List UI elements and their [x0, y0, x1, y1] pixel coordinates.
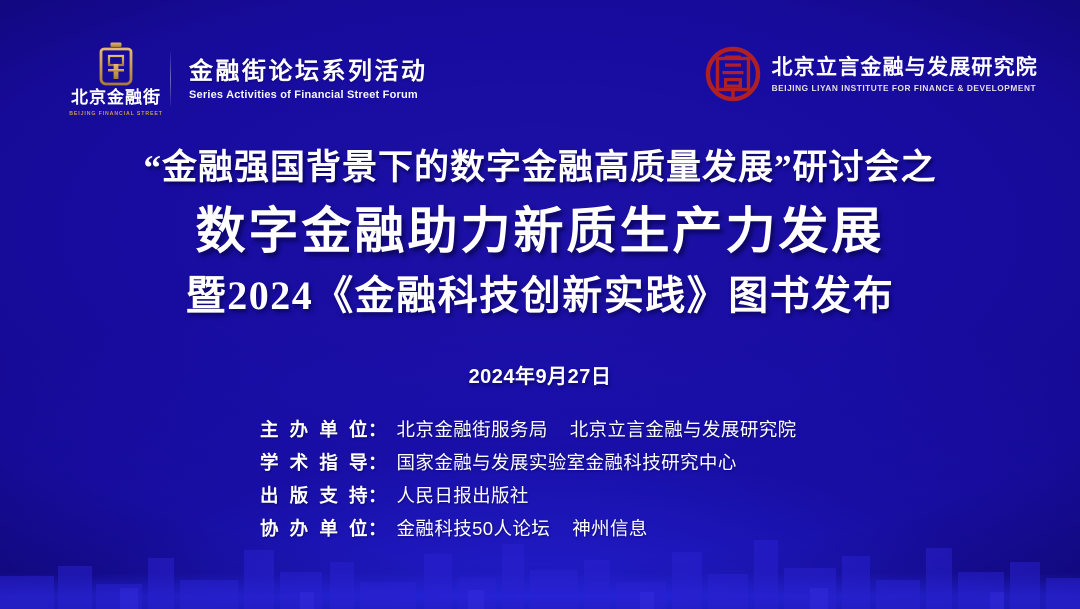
poster-header: 北京金融街 BEIJING FINANCIAL STREET 金融街论坛系列活动… — [0, 40, 1080, 120]
credit-row: 主办单位 ： 北京金融街服务局 北京立言金融与发展研究院 — [260, 418, 820, 443]
credit-values: 金融科技50人论坛 神州信息 — [397, 517, 648, 542]
liyan-name-cn: 北京立言金融与发展研究院 — [772, 55, 1038, 80]
title-line-2: 数字金融助力新质生产力发展 — [0, 199, 1080, 264]
credit-row: 协办单位 ： 金融科技50人论坛 神州信息 — [260, 517, 820, 542]
title-line-1: “金融强国背景下的数字金融高质量发展”研讨会之 — [0, 146, 1080, 190]
credit-value: 国家金融与发展实验室金融科技研究中心 — [397, 451, 737, 476]
bfs-title-cn: 金融街论坛系列活动 — [189, 58, 428, 86]
credit-row: 出版支持 ： 人民日报出版社 — [260, 484, 820, 509]
bfs-wordmark: 金融街论坛系列活动 Series Activities of Financial… — [189, 58, 428, 102]
ground-glow — [0, 573, 1080, 609]
credit-value: 北京金融街服务局 — [397, 418, 548, 443]
credit-value: 金融科技50人论坛 — [397, 517, 551, 542]
credit-value: 人民日报出版社 — [397, 484, 529, 509]
beijing-financial-street-seal-icon — [96, 42, 136, 86]
credit-colon: ： — [368, 451, 387, 476]
credit-colon: ： — [368, 517, 387, 542]
liyan-wordmark: 北京立言金融与发展研究院 BEIJING LIYAN INSTITUTE FOR… — [772, 55, 1038, 93]
bfs-title-en: Series Activities of Financial Street Fo… — [189, 89, 428, 101]
logo-beijing-financial-street: 北京金融街 BEIJING FINANCIAL STREET 金融街论坛系列活动… — [78, 42, 428, 117]
bfs-mark-en: BEIJING FINANCIAL STREET — [69, 111, 163, 117]
title-line-3: 暨2024《金融科技创新实践》图书发布 — [0, 270, 1080, 322]
liyan-institute-seal-icon — [705, 46, 761, 102]
credit-label: 协办单位 — [260, 517, 368, 542]
credit-value: 神州信息 — [572, 517, 648, 542]
credit-values: 北京金融街服务局 北京立言金融与发展研究院 — [397, 418, 797, 443]
credit-values: 人民日报出版社 — [397, 484, 529, 509]
liyan-name-en: BEIJING LIYAN INSTITUTE FOR FINANCE & DE… — [772, 83, 1038, 93]
poster-titles: “金融强国背景下的数字金融高质量发展”研讨会之 数字金融助力新质生产力发展 暨2… — [0, 146, 1080, 322]
credit-label: 学术指导 — [260, 451, 368, 476]
credit-row: 学术指导 ： 国家金融与发展实验室金融科技研究中心 — [260, 451, 820, 476]
event-date: 2024年9月27日 — [0, 360, 1080, 389]
logo-divider — [170, 52, 171, 106]
credit-values: 国家金融与发展实验室金融科技研究中心 — [397, 451, 737, 476]
event-poster: 北京金融街 BEIJING FINANCIAL STREET 金融街论坛系列活动… — [0, 0, 1080, 609]
credit-colon: ： — [368, 484, 387, 509]
logo-liyan-institute: 北京立言金融与发展研究院 BEIJING LIYAN INSTITUTE FOR… — [705, 46, 1038, 102]
bfs-mark: 北京金融街 BEIJING FINANCIAL STREET — [78, 42, 154, 117]
credit-value: 北京立言金融与发展研究院 — [570, 418, 797, 443]
credit-label: 主办单位 — [260, 418, 368, 443]
bfs-mark-cn: 北京金融街 — [71, 89, 161, 108]
credit-colon: ： — [368, 418, 387, 443]
credit-label: 出版支持 — [260, 484, 368, 509]
credits-block: 主办单位 ： 北京金融街服务局 北京立言金融与发展研究院 学术指导 ： 国家金融… — [0, 418, 1080, 542]
